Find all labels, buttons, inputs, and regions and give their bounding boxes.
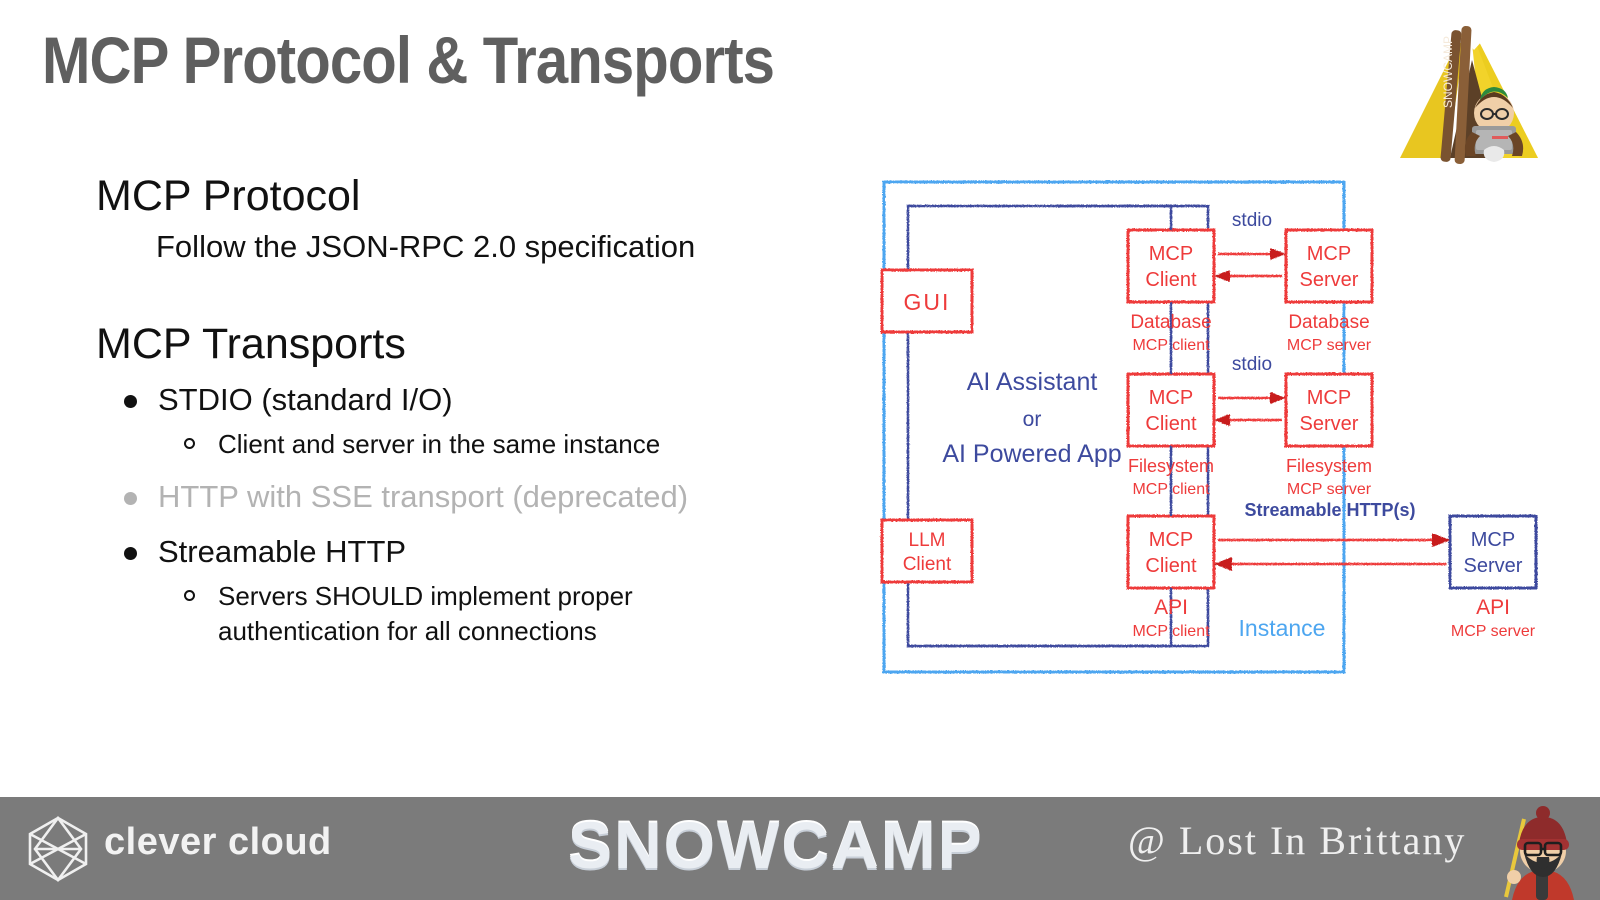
list-item: Servers SHOULD implement proper authenti… [158,579,696,648]
sublist-item-label: Servers SHOULD implement proper authenti… [218,581,633,646]
gui-box-label: GUI [904,289,951,315]
transport-label-row3: Streamable HTTP(s) [1244,500,1415,520]
bullet-disc-icon [124,492,137,505]
instance-label: Instance [1239,615,1326,641]
client-caption-row3-line1: API [1154,596,1188,619]
bullet-circle-icon [184,590,195,601]
server-caption-row2-line2: MCP server [1287,481,1372,498]
bullet-disc-icon [124,547,137,560]
snowcamp-wordmark: SNOWCAMP [568,807,984,883]
client-caption-row2-line1: Filesystem [1128,456,1214,476]
page-title: MCP Protocol & Transports [42,22,774,98]
transport-label-row1: stdio [1232,210,1272,231]
client-label-row3-line1: MCP [1149,529,1193,551]
list-item: Streamable HTTP Servers SHOULD implement… [96,531,696,648]
sublist: Client and server in the same instance [158,427,696,462]
bullet-circle-icon [184,438,195,449]
transport-label-row2: stdio [1232,354,1272,375]
list-item: STDIO (standard I/O) Client and server i… [96,379,696,461]
clever-cloud-logo-icon [22,813,94,885]
bullet-disc-icon [124,395,137,408]
list-item-label: STDIO (standard I/O) [158,382,453,417]
client-label-row2-line2: Client [1145,413,1197,435]
mcp-client-box-filesystem [1128,374,1214,446]
ai-assistant-line3: AI Powered App [942,440,1121,468]
llm-client-label-line2: Client [903,554,952,575]
server-label-row2-line2: Server [1300,413,1359,435]
section-heading-transports: MCP Transports [96,320,696,369]
ski-label: SNOWCAMP [1441,36,1455,108]
list-item-deprecated: HTTP with SSE transport (deprecated) [96,476,696,518]
ai-assistant-line2: or [1023,408,1042,431]
client-caption-row2-line2: MCP client [1132,481,1210,498]
server-caption-row1-line2: MCP server [1287,337,1372,354]
server-caption-row3-line2: MCP server [1451,623,1536,640]
list-item-label: Streamable HTTP [158,534,406,569]
client-caption-row1-line1: Database [1130,312,1211,333]
client-caption-row3-line2: MCP client [1132,623,1210,640]
llm-client-label-line1: LLM [909,530,946,551]
mcp-architecture-diagram: GUI LLM Client AI Assistant or AI Powere… [862,168,1592,688]
server-label-row2-line1: MCP [1307,387,1351,409]
mcp-client-box-database [1128,230,1214,302]
transports-list: STDIO (standard I/O) Client and server i… [96,379,696,648]
list-item-label: HTTP with SSE transport (deprecated) [158,479,688,514]
server-label-row1-line1: MCP [1307,243,1351,265]
speaker-avatar [1494,805,1592,900]
slide-content: MCP Protocol Follow the JSON-RPC 2.0 spe… [96,172,696,662]
slide: MCP Protocol & Transports SNOWCAMP [0,0,1600,900]
mcp-client-box-api [1128,516,1214,588]
speaker-handle: @ Lost In Brittany [1128,817,1466,864]
mcp-server-box-api [1450,516,1536,588]
sublist: Servers SHOULD implement proper authenti… [158,579,696,648]
clever-cloud-wordmark: clever cloud [104,821,332,864]
footer-bar: clever cloud SNOWCAMP @ Lost In Brittany [0,797,1600,900]
client-label-row1-line1: MCP [1149,243,1193,265]
list-item: Client and server in the same instance [158,427,696,462]
client-label-row1-line2: Client [1145,269,1197,291]
server-label-row3-line2: Server [1464,555,1523,577]
server-caption-row1-line1: Database [1288,312,1369,333]
server-caption-row3-line1: API [1476,596,1510,619]
sublist-item-label: Client and server in the same instance [218,429,660,459]
client-caption-row1-line2: MCP client [1132,337,1210,354]
protocol-detail: Follow the JSON-RPC 2.0 specification [156,227,696,267]
ai-assistant-line1: AI Assistant [967,368,1098,396]
mcp-server-box-filesystem [1286,374,1372,446]
section-heading-protocol: MCP Protocol [96,172,696,221]
client-label-row3-line2: Client [1145,555,1197,577]
server-label-row1-line2: Server [1300,269,1359,291]
client-label-row2-line1: MCP [1149,387,1193,409]
mcp-server-box-database [1286,230,1372,302]
snowcamp-tent-illustration: SNOWCAMP [1388,8,1558,168]
tent-icon: SNOWCAMP [1388,8,1558,168]
server-label-row3-line1: MCP [1471,529,1515,551]
server-caption-row2-line1: Filesystem [1286,456,1372,476]
